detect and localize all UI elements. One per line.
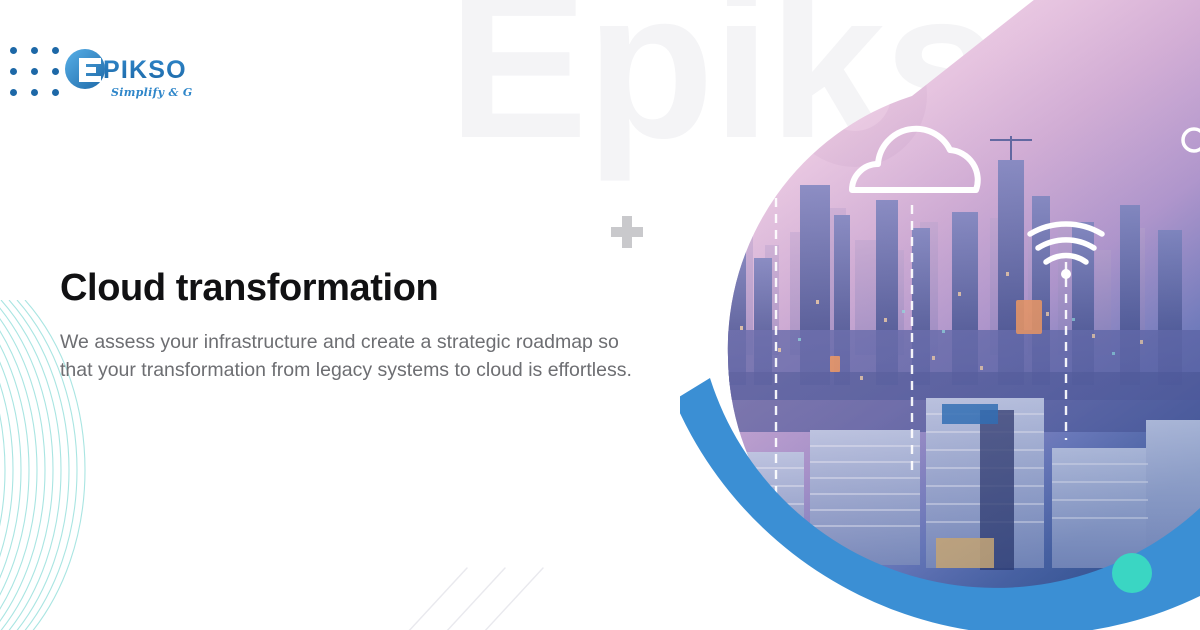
page-title: Cloud transformation [60,268,660,310]
city-skyline-photo [680,0,1200,630]
grid-dot [10,89,17,96]
grid-dot [52,68,59,75]
grid-dot [52,47,59,54]
logo-wordmark: PIKSO [103,56,187,84]
grid-dot [31,68,38,75]
grid-dot [31,47,38,54]
epikso-logo[interactable]: PIKSO Simplify & Grow [64,48,192,102]
grid-dot [10,47,17,54]
circle-outline-icon [719,187,741,209]
decorative-diagonal-lines [405,540,565,630]
logo-monogram-icon [65,49,105,89]
grid-dot [10,68,17,75]
hero-artwork [680,0,1200,630]
hero-description: We assess your infrastructure and create… [60,328,635,385]
hero-copy: Cloud transformation We assess your infr… [60,268,660,385]
grid-dot [31,89,38,96]
plus-icon [611,216,643,248]
grid-dot [52,89,59,96]
teal-dot-decoration [1112,553,1152,593]
hero-banner: Epikso [0,0,1200,630]
logo-tagline: Simplify & Grow [111,86,192,99]
